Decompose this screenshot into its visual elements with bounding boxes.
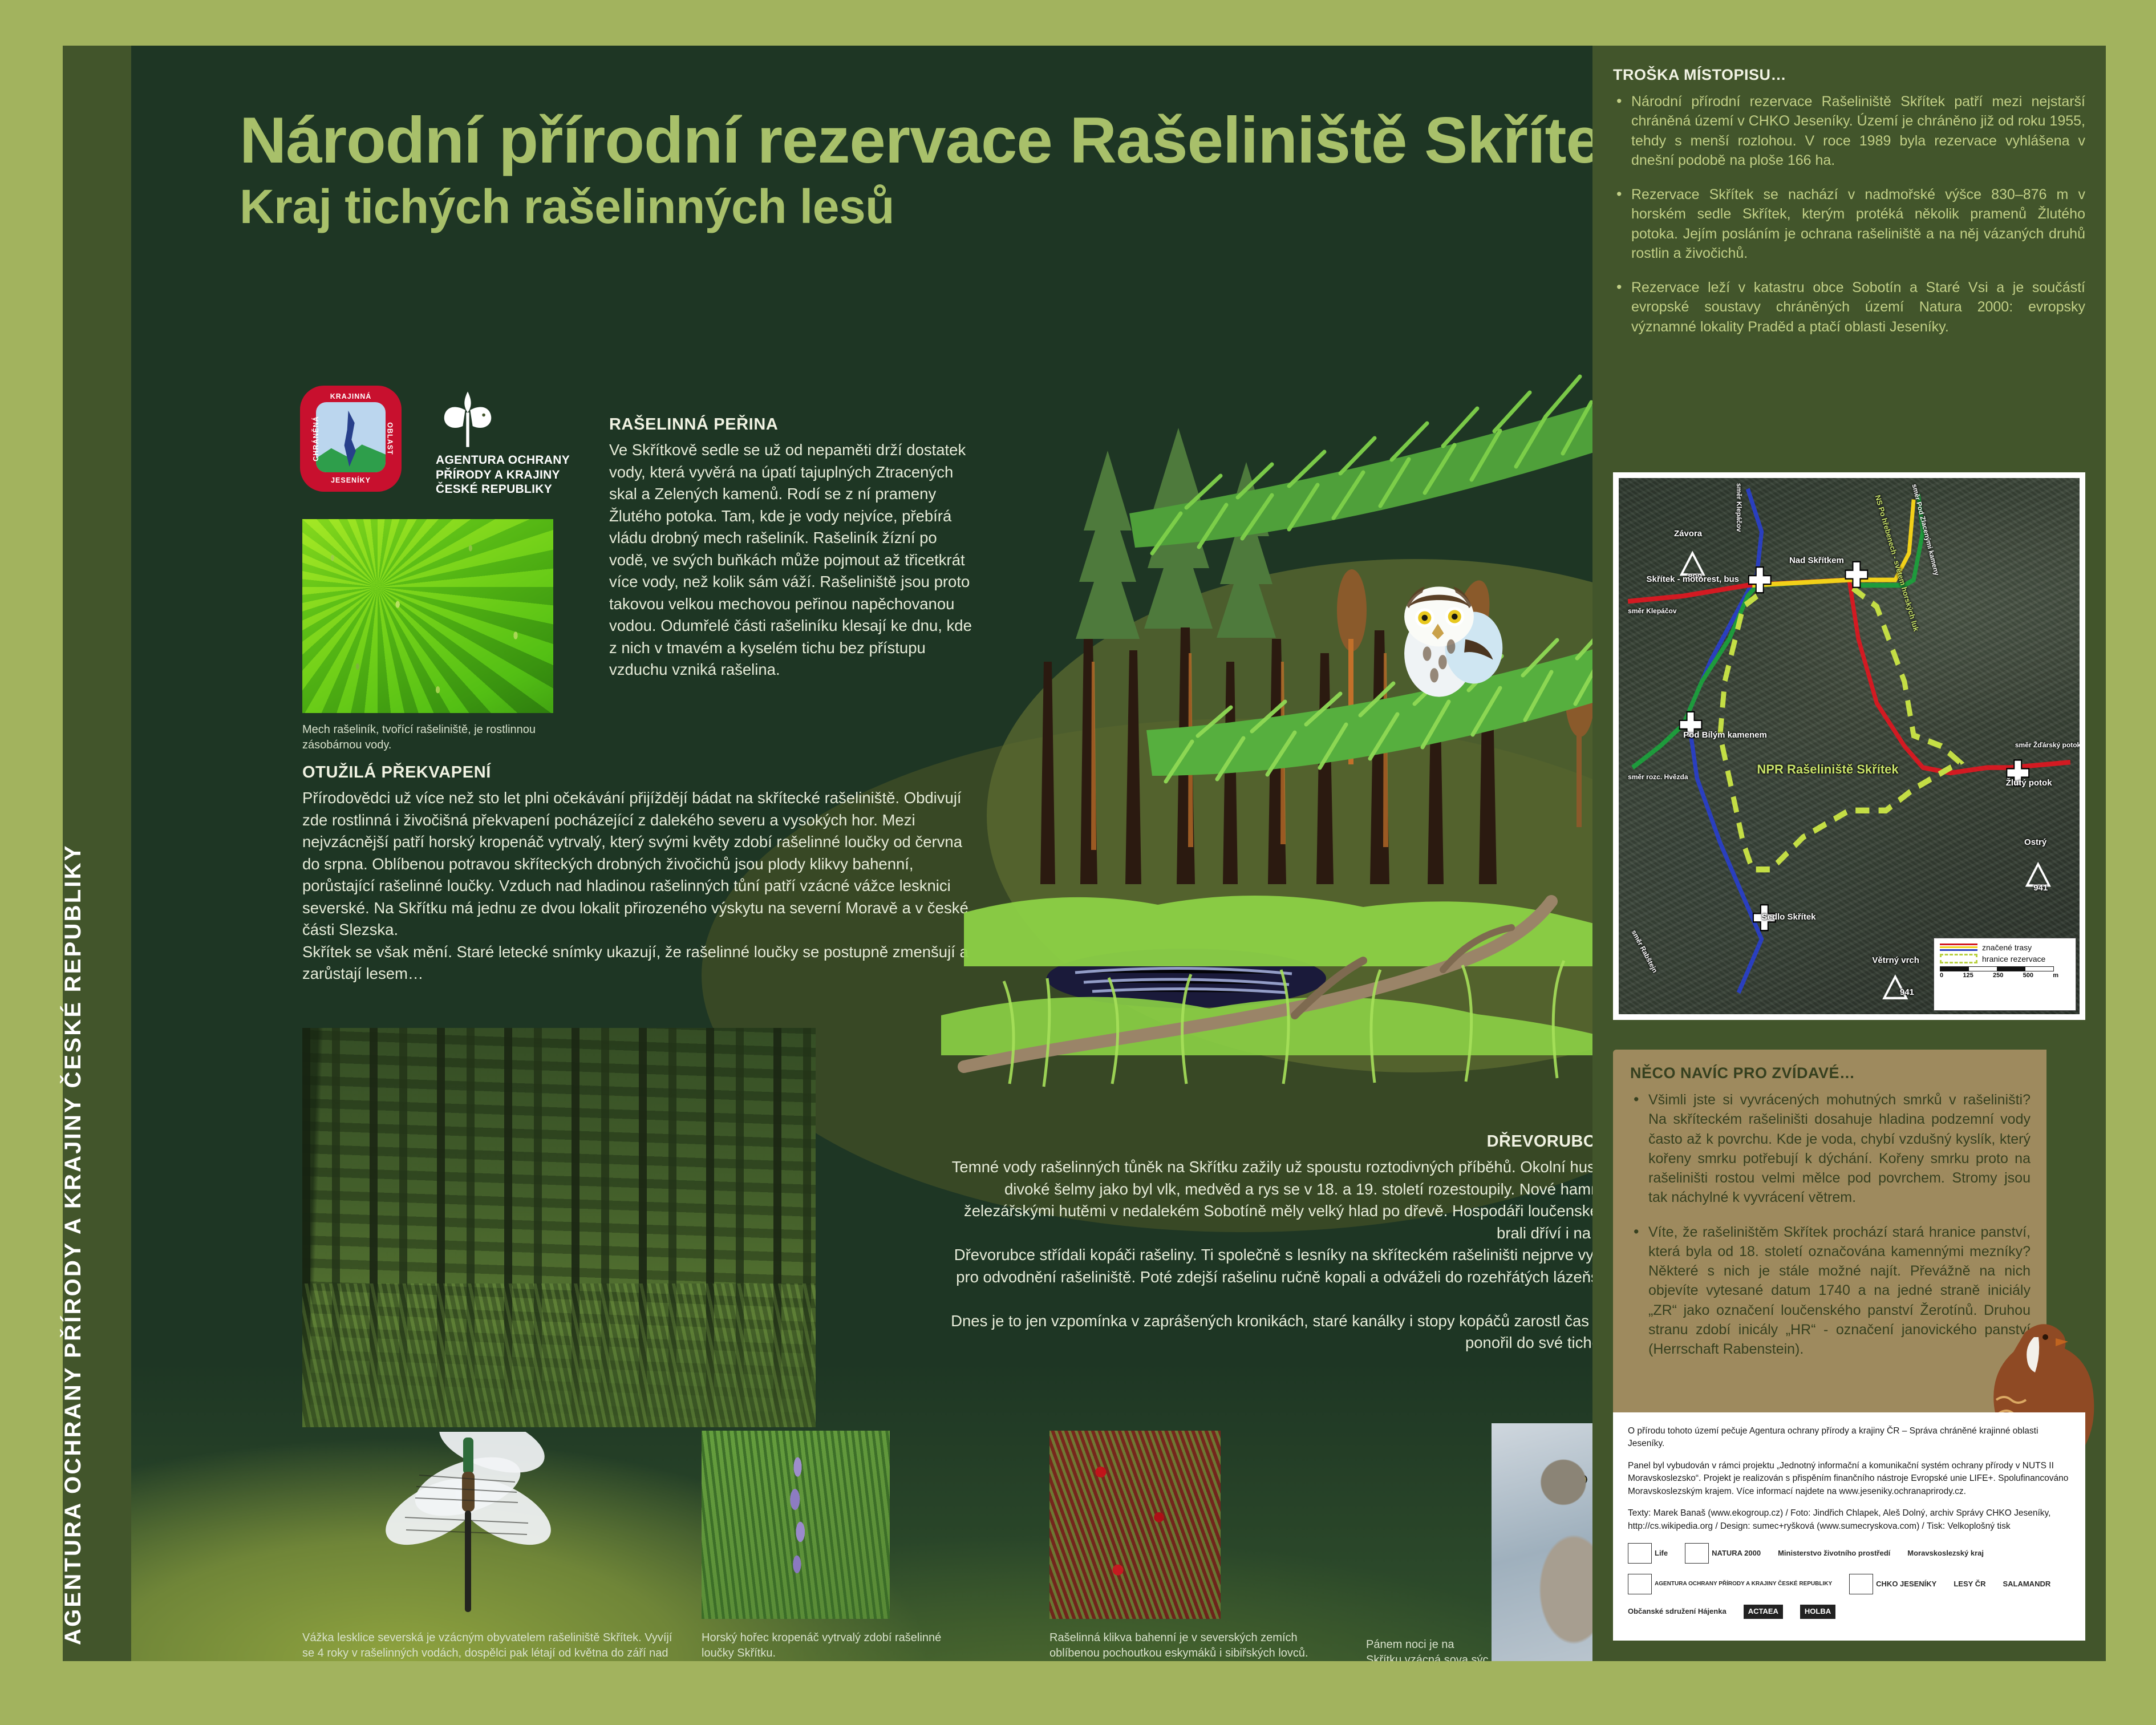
title-main: Národní přírodní rezervace Rašeliniště S… [240,108,1551,173]
page-title: Národní přírodní rezervace Rašeliniště S… [240,108,1551,230]
aerial-map[interactable]: Závora 899 Ostrý 941 Větrný vrch 941 Skř… [1619,478,2080,1014]
legend-row-trails: značené trasy [1940,943,2071,952]
chko-label-right: OBLAST [386,422,394,455]
scale-tick-1: 125 [1963,972,1973,979]
map-peak-vetrny-vrch: Větrný vrch [1872,955,1919,965]
list-item: Národní přírodní rezervace Rašeliniště S… [1613,92,2085,170]
sponsor-life: Life [1628,1543,1668,1564]
sponsor-hajenka: Občanské sdružení Hájenka [1628,1606,1727,1617]
photo-dragonfly [319,1432,616,1620]
sponsor-mzp: Ministerstvo životního prostředí [1778,1548,1890,1559]
list-item: Rezervace Skřítek se nachází v nadmořské… [1613,185,2085,263]
aopk-line-1: AGENTURA OCHRANY [436,453,570,468]
section-body-2: Dřevorubce střídali kopáči rašeliny. Ti … [935,1244,1592,1310]
aopk-wordmark: AGENTURA OCHRANY PŘÍRODY A KRAJINY ČESKÉ… [436,453,570,497]
section-drevorubci-a-lazebnici: DŘEVORUBCI A LAZEBNÍCI Temné vody rašeli… [935,1132,1592,1354]
chko-label-left: CHRÁNĚNÁ [312,416,320,461]
photo-cranberry [1049,1431,1221,1619]
section-otuzila-prekvapeni: OTUŽILÁ PŘEKVAPENÍ Přírodovědci už více … [302,763,975,985]
map-direction-klepacov-west: směr Klepáčov [1628,607,1676,615]
photo-spruce-forest [302,1028,816,1427]
list-item: Rezervace leží v katastru obce Sobotín a… [1613,278,2085,337]
sponsor-chko: CHKO JESENÍKY [1849,1574,1936,1594]
sponsor-salamandr: SALAMANDR [2003,1579,2050,1590]
credits-line-3: Texty: Marek Banaš (www.ekogroup.cz) / F… [1628,1507,2070,1533]
illustration-svg [941,342,1592,1095]
map-legend: značené trasy hranice rezervace [1934,938,2076,1011]
chko-ring-text: KRAJINNÁ CHRÁNĚNÁ OBLAST JESENÍKY [302,388,399,489]
spine-label: AGENTURA OCHRANY PŘÍRODY A KRAJINY ČESKÉ… [60,844,86,1645]
boundary-swatch-icon [1940,954,1977,963]
title-subtitle: Kraj tichých rašelinných lesů [240,183,1551,230]
legend-label-trails: značené trasy [1982,943,2032,952]
map-area-label: NPR Rašeliniště Skřítek [1757,762,1898,777]
map-place-nad-skritkem: Nad Skřítkem [1789,556,1844,565]
right-info-column: TROŠKA MÍSTOPISU… Národní přírodní rezer… [1592,46,2106,1661]
section-body: Temné vody rašelinných tůněk na Skřítku … [935,1156,1592,1244]
information-board-poster: AGENTURA OCHRANY PŘÍRODY A KRAJINY ČESKÉ… [0,0,2156,1725]
section-heading: DŘEVORUBCI A LAZEBNÍCI [935,1132,1592,1151]
leaf-sprout-icon [436,388,500,450]
aopk-line-3: ČESKÉ REPUBLIKY [436,482,570,497]
map-peak-ostry: Ostrý [2024,837,2046,847]
chko-jeseniky-logo: KRAJINNÁ CHRÁNĚNÁ OBLAST JESENÍKY [302,388,399,489]
section-neco-navic-pro-zvidave: NĚCO NAVÍC PRO ZVÍDAVÉ… Všimli jste si v… [1613,1050,2046,1449]
section-raselinna-perina: RAŠELINNÁ PEŘINA Ve Skřítkově sedle se u… [609,415,974,681]
sponsor-msk: Moravskoslezský kraj [1907,1548,1984,1559]
spruce-branch-lower-icon [1146,610,1592,781]
scale-tick-0: 0 [1940,972,1943,979]
section-body-3: Dnes je to jen vzpomínka v zaprášených k… [935,1310,1592,1354]
section-body: Ve Skřítkově sedle se už od nepaměti drž… [609,439,974,681]
map-overlay-svg [1619,478,2080,1014]
sponsor-natura2000: NATURA 2000 [1685,1543,1761,1564]
sponsor-logo-row: Life NATURA 2000 Ministerstvo životního … [1628,1543,2070,1619]
credits-footer: O přírodu tohoto území pečuje Agentura o… [1613,1412,2085,1641]
photo-gentian [702,1431,890,1619]
section-heading: TROŠKA MÍSTOPISU… [1613,66,2085,84]
map-peak-ostry-elev: 941 [2033,883,2048,893]
chko-label-top: KRAJINNÁ [330,392,372,400]
mistopis-bullet-list: Národní přírodní rezervace Rašeliniště S… [1613,92,2085,337]
section-troska-mistopisu: TROŠKA MÍSTOPISU… Národní přírodní rezer… [1613,66,2085,351]
caption-cranberry: Rašelinná klikva bahenní je v severských… [1049,1630,1346,1661]
map-direction-klepacov-north: směr Klepáčov [1735,483,1743,532]
trail-color-swatches-icon [1940,944,1977,952]
scale-tick-3: 500 [2023,972,2033,979]
legend-scalebar: 0 125 250 500 m [1940,966,2071,979]
map-place-skritek-motorest: Skřítek - motorest, bus [1646,574,1739,584]
dragonfly-icon [319,1432,616,1620]
map-direction-zdarsky-potok: směr Žďárský potok [2015,741,2080,749]
map-place-sedlo-skritek: Sedlo Skřítek [1761,912,1815,922]
board-panel: AGENTURA OCHRANY PŘÍRODY A KRAJINY ČESKÉ… [63,46,2106,1661]
spruce-branch-upper-icon [1129,361,1592,553]
list-item: Všimli jste si vyvrácených mohutných smr… [1630,1090,2031,1208]
caption-gentian: Horský hořec kropenáč vytrvalý zdobí raš… [702,1630,970,1661]
legend-label-boundary: hranice rezervace [1982,954,2045,963]
map-place-zluty-potok: Žlutý potok [2006,778,2052,788]
aopk-line-2: PŘÍRODY A KRAJINY [436,468,570,483]
section-body-2: Skřítek se však mění. Staré letecké sním… [302,941,975,985]
map-peak-zavora: Závora [1674,529,1702,538]
sponsor-aopk: AGENTURA OCHRANY PŘÍRODY A KRAJINY ČESKÉ… [1628,1574,1832,1594]
credits-line-1: O přírodu tohoto území pečuje Agentura o… [1628,1425,2070,1451]
sponsor-holba: HOLBA [1800,1605,1835,1619]
map-peak-vetrny-elev: 941 [1900,987,1914,997]
caption-dragonfly: Vážka lesklice severská je vzácným obyva… [302,1630,679,1661]
photo-boreal-owl [1492,1423,1592,1661]
caption-peat-moss: Mech rašeliník, tvořící rašeliniště, je … [302,722,548,753]
reserve-boundary [1720,585,1960,869]
section-heading: NĚCO NAVÍC PRO ZVÍDAVÉ… [1630,1064,2031,1082]
illustration-peatbog-with-owl [941,342,1592,1095]
map-container[interactable]: Závora 899 Ostrý 941 Větrný vrch 941 Skř… [1613,472,2085,1020]
vertical-agency-spine: AGENTURA OCHRANY PŘÍRODY A KRAJINY ČESKÉ… [63,46,131,1661]
aopk-logo: AGENTURA OCHRANY PŘÍRODY A KRAJINY ČESKÉ… [436,388,570,497]
map-place-pod-bilym-kamenem: Pod Bílým kamenem [1683,730,1767,740]
section-body: Přírodovědci už více než sto let plni oč… [302,787,975,941]
credits-line-2: Panel byl vybudován v rámci projektu „Je… [1628,1460,2070,1498]
caption-owl: Pánem noci je na Skřítku vzácná sova sýc… [1366,1637,1489,1661]
legend-row-boundary: hranice rezervace [1940,954,2071,963]
map-direction-rozc-hvezda: směr rozc. Hvězda [1628,773,1688,781]
scale-tick-2: 250 [1993,972,2003,979]
sponsor-actaea: ACTAEA [1744,1605,1783,1619]
chko-label-bottom: JESENÍKY [331,476,371,484]
scalebar-icon [1940,966,2054,971]
photo-peat-moss [302,519,553,713]
logo-row: KRAJINNÁ CHRÁNĚNÁ OBLAST JESENÍKY [302,388,570,497]
section-heading: OTUŽILÁ PŘEKVAPENÍ [302,763,975,782]
scale-unit: m [2053,972,2058,979]
section-heading: RAŠELINNÁ PEŘINA [609,415,974,434]
main-content-panel: Národní přírodní rezervace Rašeliniště S… [131,46,1592,1661]
scalebar-ticks: 0 125 250 500 m [1940,972,2058,979]
sponsor-lesycr: LESY ČR [1954,1579,1985,1590]
